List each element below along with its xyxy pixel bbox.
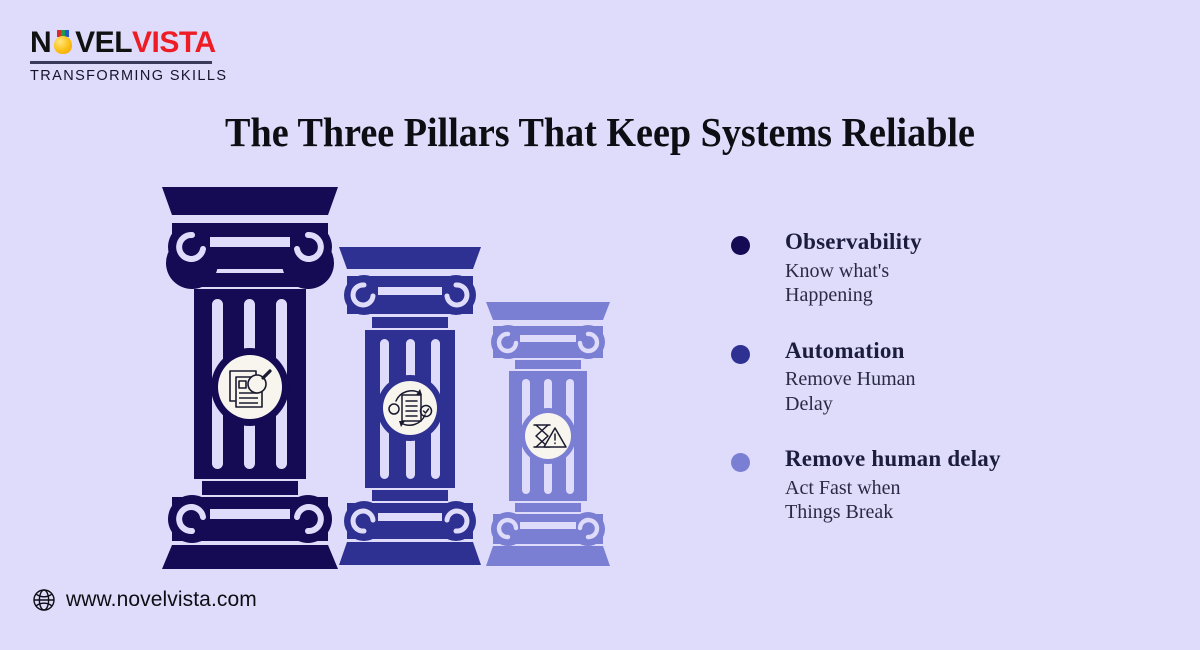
legend-bullet-icon [731, 345, 750, 364]
footer-url-text: www.novelvista.com [66, 588, 257, 612]
pillar-icon-medallion-3 [520, 408, 576, 464]
legend-item-title: Remove human delay [785, 445, 1148, 474]
legend-item-title: Observability [785, 228, 1148, 257]
legend-item-subtitle: Remove Human Delay [785, 367, 1148, 416]
legend-item-incident-response[interactable]: Remove human delay Act Fast when Things … [728, 445, 1148, 525]
brand-logo[interactable]: N VEL VISTA TRANSFORMING SKILLS [30, 28, 230, 84]
globe-icon [32, 588, 56, 612]
page-title: The Three Pillars That Keep Systems Reli… [42, 108, 1158, 156]
logo-divider [30, 61, 212, 64]
legend-list: Observability Know what's Happening Auto… [728, 228, 1148, 554]
logo-wordmark: N VEL VISTA [30, 28, 230, 58]
logo-tagline: TRANSFORMING SKILLS [30, 68, 230, 84]
legend-item-automation[interactable]: Automation Remove Human Delay [728, 337, 1148, 417]
legend-item-title: Automation [785, 337, 1148, 366]
pillar-icon-medallion-1 [211, 348, 289, 426]
legend-item-subtitle: Act Fast when Things Break [785, 476, 1148, 525]
legend-item-subtitle: Know what's Happening [785, 259, 1148, 308]
pillar-icon-medallion-2 [377, 375, 443, 441]
pillar-observability [150, 185, 350, 570]
legend-bullet-icon [731, 453, 750, 472]
legend-item-observability[interactable]: Observability Know what's Happening [728, 228, 1148, 308]
lightbulb-icon [52, 30, 74, 56]
logo-text-n: N [30, 28, 51, 58]
logo-text-vel: VEL [75, 28, 132, 58]
pillar-incident-response [478, 300, 618, 570]
pillars-illustration [150, 180, 650, 570]
logo-text-vista: VISTA [132, 28, 216, 58]
pillar-automation [330, 245, 490, 570]
footer-website[interactable]: www.novelvista.com [32, 588, 257, 612]
legend-bullet-icon [731, 236, 750, 255]
